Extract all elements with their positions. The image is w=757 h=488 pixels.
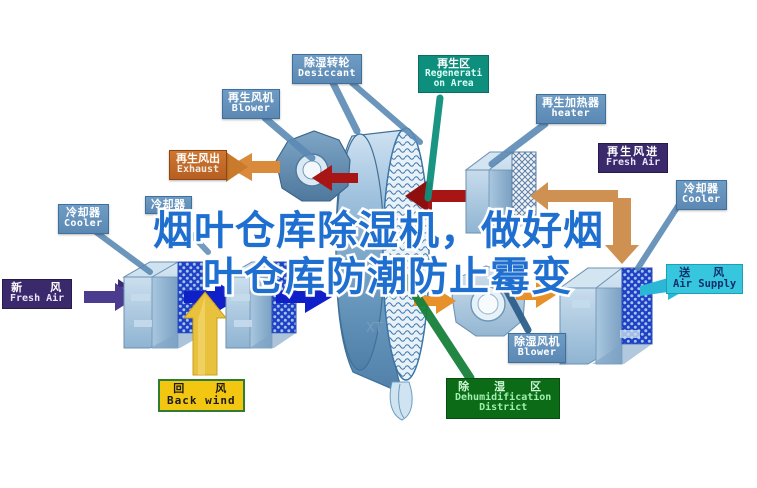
label-regeneration-fresh-air[interactable]: 再生风进 Fresh Air [598,143,668,173]
label-cooler-left[interactable]: 冷却器 Cooler [58,204,109,234]
label-desiccant-wheel[interactable]: 除湿转轮 Desiccant [292,54,362,84]
label-exhaust[interactable]: 再生风出 Exhaust [169,150,227,180]
label-dehumidification-district-cn: 除 湿 区 [455,381,551,393]
label-regeneration-area-en2: on Area [425,79,482,89]
label-cooler-right-en: Cooler [682,195,721,206]
label-air-supply-en: Air Supply [673,279,736,290]
exhaust-arrow [226,152,280,182]
label-dehumidification-district-en2: District [455,403,551,414]
label-fresh-air-inlet-en: Fresh Air [10,294,64,305]
label-regeneration-blower-en: Blower [228,104,274,115]
label-cooler-mid-cn: 冷却器 [151,199,186,211]
label-back-wind-en: Back wind [167,395,236,407]
label-dehumidify-blower-en: Blower [514,348,560,359]
label-cooler-mid[interactable]: 冷却器 [145,196,192,214]
watermark: XT [366,321,383,336]
process-air-inlet-section [84,262,332,375]
label-regeneration-fresh-air-en: Fresh Air [606,158,660,169]
fresh-air-up-arrow [605,198,639,264]
label-dehumidify-blower[interactable]: 除湿风机 Blower [508,333,566,363]
regeneration-blower-housing [276,131,350,201]
label-cooler-left-en: Cooler [64,219,103,230]
cooler-coil-mid [226,262,296,348]
label-regeneration-heater[interactable]: 再生加热器 heater [536,94,606,124]
regen-inlet-arrow [530,182,618,210]
label-regeneration-heater-en: heater [542,109,600,120]
desiccant-rotor: XT [336,128,429,420]
label-exhaust-en: Exhaust [176,165,220,176]
label-regeneration-area[interactable]: 再生区 Regenerati on Area [418,55,489,93]
diagram-canvas: XT [0,0,757,488]
label-dehumidification-district[interactable]: 除 湿 区 Dehumidification District [446,378,560,419]
label-regeneration-blower[interactable]: 再生风机 Blower [222,89,280,119]
regeneration-heater-block [466,152,536,233]
drain-pan [390,382,412,420]
label-back-wind[interactable]: 回 风 Back wind [158,379,245,412]
label-fresh-air-inlet[interactable]: 新 风 Fresh Air [2,279,72,309]
dehumidifier-diagram: XT [0,0,757,488]
label-desiccant-wheel-en: Desiccant [298,69,356,80]
label-air-supply[interactable]: 送 风 Air Supply [666,264,743,294]
label-cooler-right[interactable]: 冷却器 Cooler [676,180,727,210]
cooler-coil-right [560,268,652,364]
